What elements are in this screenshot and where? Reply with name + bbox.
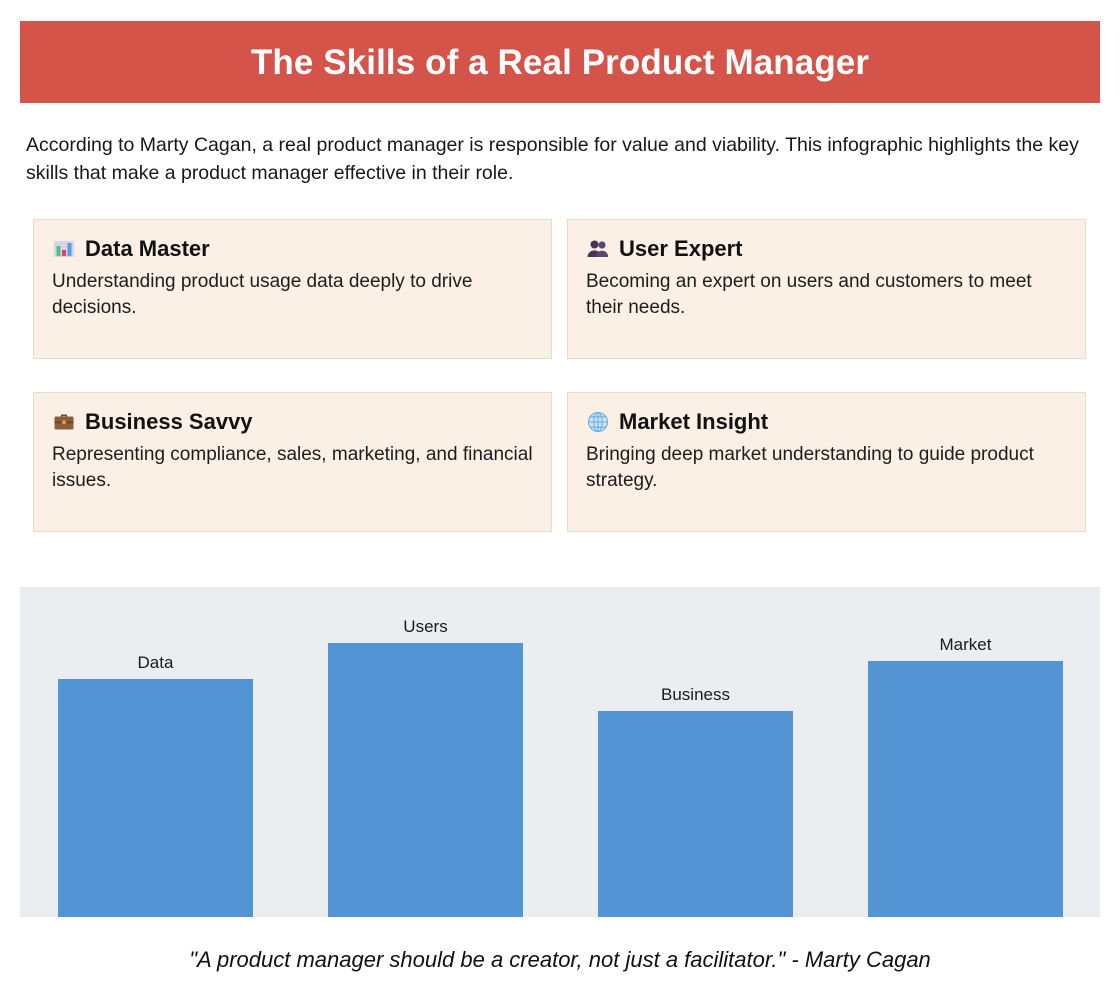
skill-card-market-insight: Market Insight Bringing deep market unde… [567, 392, 1086, 532]
card-description: Bringing deep market understanding to gu… [586, 442, 1067, 494]
briefcase-icon [52, 410, 76, 434]
card-description: Representing compliance, sales, marketin… [52, 442, 533, 494]
card-title: Data Master [85, 236, 210, 262]
bar-market [868, 661, 1063, 917]
card-header: Market Insight [586, 409, 1067, 435]
skill-card-data-master: Data Master Understanding product usage … [33, 219, 552, 359]
bar-group: Business [598, 587, 793, 917]
bar-users [328, 643, 523, 917]
skill-card-grid: Data Master Understanding product usage … [33, 219, 1087, 532]
bar-label-business: Business [598, 685, 793, 705]
bar-group: Users [328, 587, 523, 917]
card-title: Business Savvy [85, 409, 253, 435]
bar-label-users: Users [328, 617, 523, 637]
page-title: The Skills of a Real Product Manager [251, 45, 869, 80]
bar-label-market: Market [868, 635, 1063, 655]
infographic-page: The Skills of a Real Product Manager Acc… [0, 0, 1120, 996]
card-header: Business Savvy [52, 409, 533, 435]
header-banner: The Skills of a Real Product Manager [20, 21, 1100, 103]
skill-card-business-savvy: Business Savvy Representing compliance, … [33, 392, 552, 532]
bar-group: Market [868, 587, 1063, 917]
footer-quote: "A product manager should be a creator, … [0, 946, 1120, 974]
bar-business [598, 711, 793, 917]
card-title: User Expert [619, 236, 743, 262]
globe-icon [586, 410, 610, 434]
busts-in-silhouette-icon [586, 237, 610, 261]
card-title: Market Insight [619, 409, 768, 435]
bar-group: Data [58, 587, 253, 917]
skills-bar-chart: DataUsersBusinessMarket [20, 587, 1100, 917]
bar-data [58, 679, 253, 917]
skill-card-user-expert: User Expert Becoming an expert on users … [567, 219, 1086, 359]
chart-plot-area: DataUsersBusinessMarket [20, 587, 1100, 917]
card-description: Understanding product usage data deeply … [52, 269, 533, 321]
bar-chart-icon [52, 237, 76, 261]
bar-label-data: Data [58, 653, 253, 673]
card-description: Becoming an expert on users and customer… [586, 269, 1067, 321]
card-header: User Expert [586, 236, 1067, 262]
card-header: Data Master [52, 236, 533, 262]
intro-paragraph: According to Marty Cagan, a real product… [26, 131, 1101, 187]
